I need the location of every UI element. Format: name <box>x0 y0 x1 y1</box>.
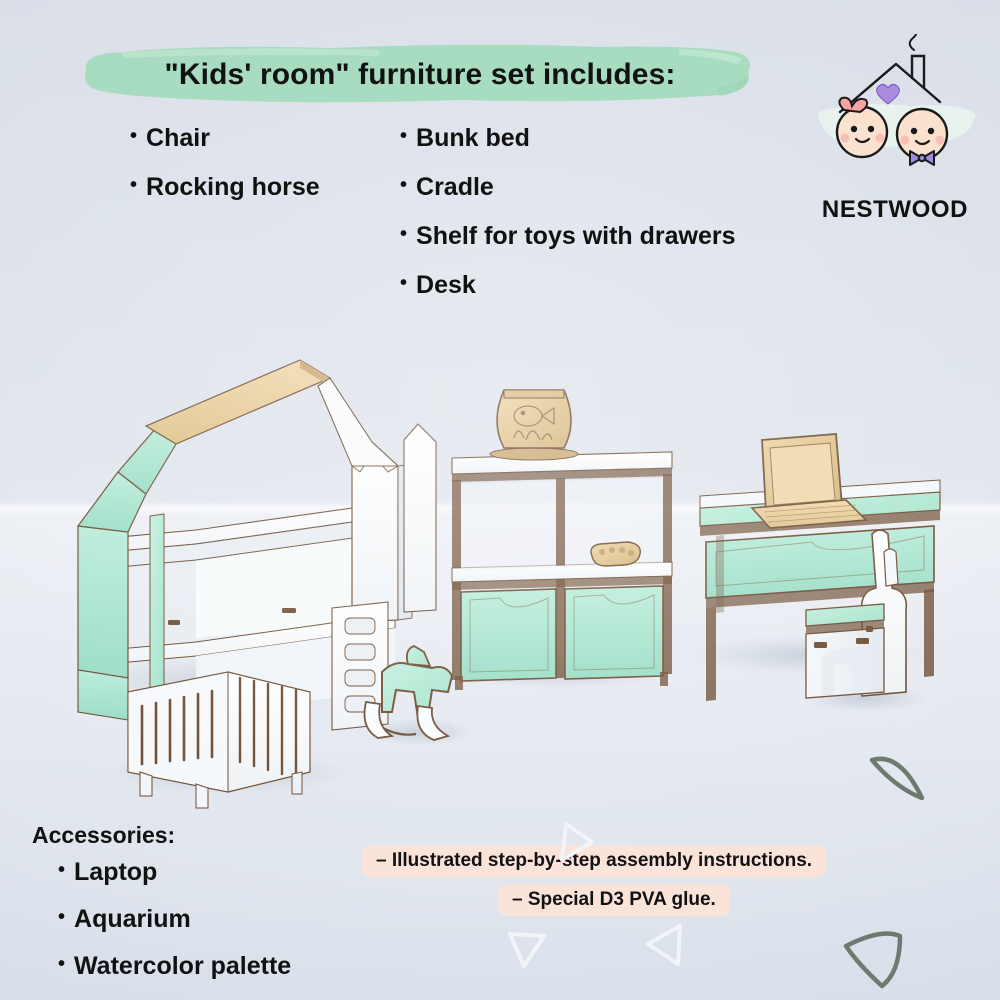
list-item: • Laptop <box>58 860 291 885</box>
badge-glue: – Special D3 PVA glue. <box>498 884 730 916</box>
bullet-icon: • <box>400 175 407 196</box>
brand-name: NESTWOOD <box>800 196 990 224</box>
bullet-icon: • <box>58 954 65 975</box>
shelf-for-toys-with-drawers <box>452 452 672 690</box>
furniture-scene <box>0 320 1000 840</box>
decor-triangle-dark <box>862 748 932 818</box>
set-items-right-list: • Bunk bed • Cradle • Shelf for toys wit… <box>400 126 736 322</box>
list-item-label: Laptop <box>74 860 157 885</box>
page-title: "Kids' room" furniture set includes: <box>80 42 760 108</box>
bullet-icon: • <box>400 126 407 147</box>
set-items-left-list: • Chair • Rocking horse <box>130 126 320 224</box>
shelf-drawer-left <box>461 589 556 681</box>
accessories-title: Accessories: <box>32 822 175 849</box>
decor-triangle-dark <box>838 920 918 992</box>
list-item-label: Aquarium <box>74 907 191 932</box>
aquarium <box>490 390 578 460</box>
list-item: • Chair <box>130 126 320 151</box>
decor-triangle-light <box>552 818 604 870</box>
poster-canvas: "Kids' room" furniture set includes: • C… <box>0 0 1000 1000</box>
decor-triangle-light <box>636 918 692 972</box>
list-item: • Cradle <box>400 175 736 200</box>
laptop <box>752 434 866 528</box>
bullet-icon: • <box>400 273 407 294</box>
list-item-label: Rocking horse <box>146 175 320 200</box>
list-item-label: Watercolor palette <box>74 954 291 979</box>
chimney-smoke-icon <box>910 34 924 88</box>
bullet-icon: • <box>58 907 65 928</box>
heart-icon <box>877 84 900 104</box>
list-item-label: Shelf for toys with drawers <box>416 224 736 249</box>
list-item: • Watercolor palette <box>58 954 291 979</box>
list-item: • Bunk bed <box>400 126 736 151</box>
headline-block: "Kids' room" furniture set includes: <box>80 42 760 108</box>
brand-logo: NESTWOOD <box>800 34 990 214</box>
baby-boy-face-icon <box>897 109 947 165</box>
bullet-icon: • <box>400 224 407 245</box>
list-item-label: Bunk bed <box>416 126 530 151</box>
list-item-label: Desk <box>416 273 476 298</box>
accessories-list: • Laptop • Aquarium • Watercolor palette <box>58 860 291 1000</box>
list-item: • Shelf for toys with drawers <box>400 224 736 249</box>
list-item-label: Chair <box>146 126 210 151</box>
shelf-drawer-right <box>565 586 663 679</box>
bullet-icon: • <box>130 175 137 196</box>
watercolor-palette <box>591 542 640 566</box>
decor-triangle-light <box>502 926 552 974</box>
bullet-icon: • <box>58 860 65 881</box>
list-item: • Desk <box>400 273 736 298</box>
list-item: • Rocking horse <box>130 175 320 200</box>
bullet-icon: • <box>130 126 137 147</box>
list-item: • Aquarium <box>58 907 291 932</box>
list-item-label: Cradle <box>416 175 494 200</box>
